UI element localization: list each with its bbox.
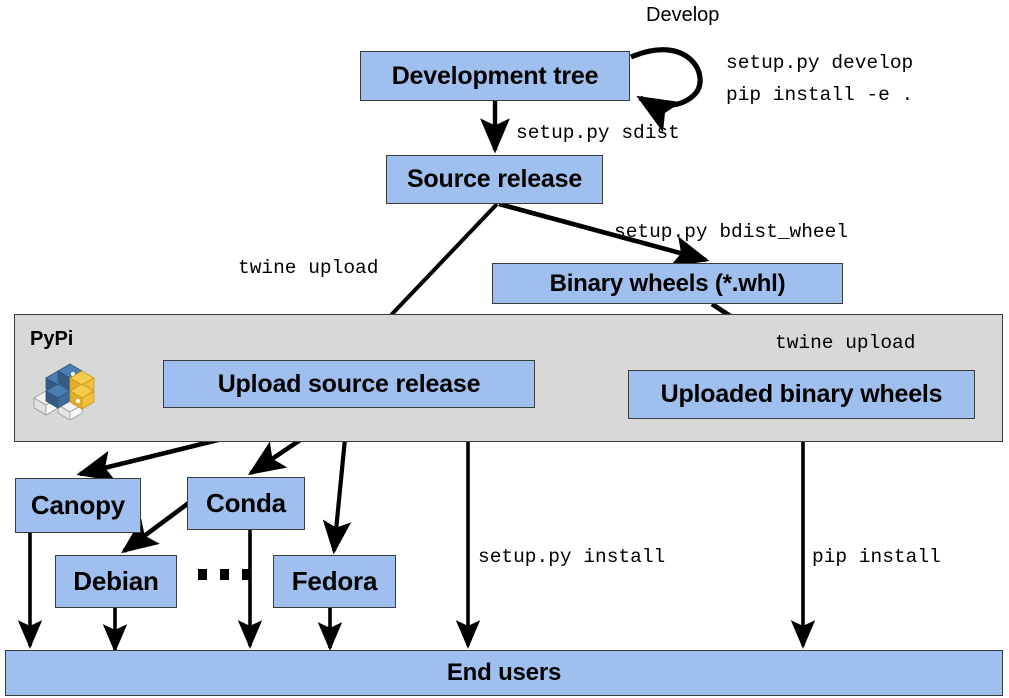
label-setup-py-develop: setup.py develop [726,52,913,74]
ellipsis-more-distros [198,569,251,580]
label-setup-py-install: setup.py install [478,546,665,568]
label-pip-install: pip install [812,546,941,568]
edge-develop-selfloop [631,50,700,106]
node-upload-source-release-label: Upload source release [218,370,481,399]
label-develop: Develop [646,4,719,27]
ellipsis-dot [242,569,251,580]
node-uploaded-binary-wheels-label: Uploaded binary wheels [661,380,943,409]
node-development-tree-label: Development tree [392,62,599,91]
node-end-users-label: End users [447,659,561,687]
node-conda-label: Conda [206,488,286,519]
ellipsis-dot [220,569,229,580]
node-canopy[interactable]: Canopy [15,478,141,533]
python-cubes-logo [26,358,98,420]
label-twine-upload-source: twine upload [238,257,378,279]
node-canopy-label: Canopy [31,490,125,521]
node-uploaded-binary-wheels[interactable]: Uploaded binary wheels [628,370,975,419]
node-debian[interactable]: Debian [55,555,177,608]
node-source-release-label: Source release [407,165,582,194]
ellipsis-dot [198,569,207,580]
label-twine-upload-wheels: twine upload [775,332,915,354]
label-setup-py-bdist-wheel: setup.py bdist_wheel [614,221,848,243]
node-fedora[interactable]: Fedora [273,555,396,608]
node-binary-wheels[interactable]: Binary wheels (*.whl) [492,263,843,304]
node-fedora-label: Fedora [292,566,377,597]
node-upload-source-release[interactable]: Upload source release [163,360,535,408]
node-end-users[interactable]: End users [5,650,1003,696]
node-development-tree[interactable]: Development tree [360,51,630,101]
label-pip-install-editable: pip install -e . [726,84,913,106]
node-source-release[interactable]: Source release [386,155,603,204]
node-debian-label: Debian [73,566,158,597]
label-setup-py-sdist: setup.py sdist [516,122,680,144]
node-binary-wheels-label: Binary wheels (*.whl) [550,270,786,298]
node-conda[interactable]: Conda [187,477,305,530]
pypi-region-label: PyPi [30,328,73,351]
diagram-canvas: PyPi [0,0,1009,698]
